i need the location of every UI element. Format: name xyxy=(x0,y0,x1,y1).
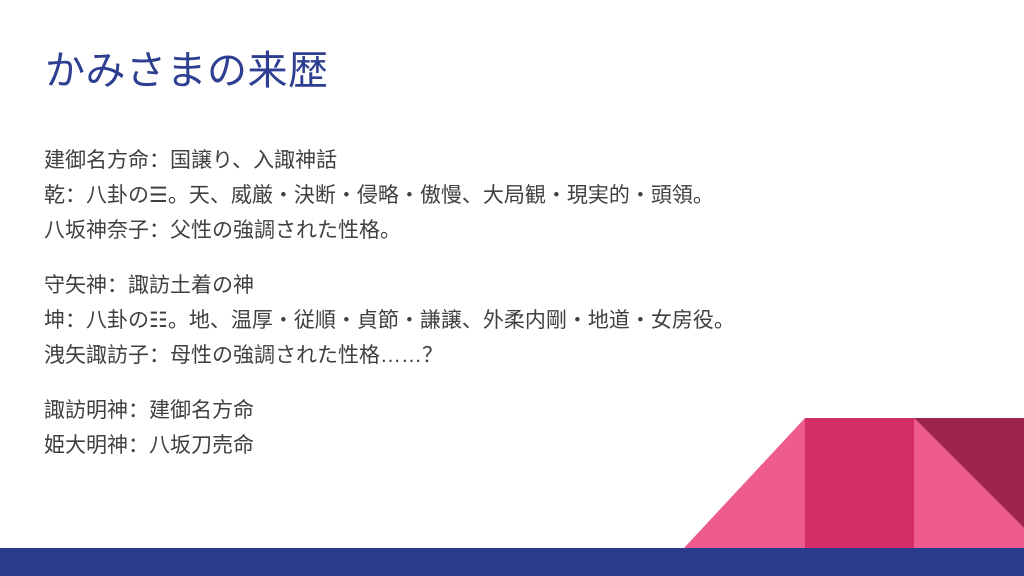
kanako-group: 建御名方命：国譲り、入諏神話 乾：八卦の☰。天、威厳・決断・侵略・傲慢、大局観・… xyxy=(44,143,984,248)
footer-bar xyxy=(0,548,1024,576)
body-line: 姫大明神：八坂刀売命 xyxy=(44,428,984,463)
page-title: かみさまの来歴 xyxy=(45,47,945,95)
suwako-group: 守矢神：諏訪土着の神 坤：八卦の☷。地、温厚・従順・貞節・謙譲、外柔内剛・地道・… xyxy=(44,268,984,373)
myojin-group: 諏訪明神：建御名方命 姫大明神：八坂刀売命 xyxy=(44,393,984,463)
body-line: 洩矢諏訪子：母性の強調された性格……？ xyxy=(44,338,984,373)
body-line: 坤：八卦の☷。地、温厚・従順・貞節・謙譲、外柔内剛・地道・女房役。 xyxy=(44,303,984,338)
slide-body: 建御名方命：国譲り、入諏神話 乾：八卦の☰。天、威厳・決断・侵略・傲慢、大局観・… xyxy=(44,143,984,463)
slide-canvas: かみさまの来歴 建御名方命：国譲り、入諏神話 乾：八卦の☰。天、威厳・決断・侵略… xyxy=(0,0,1024,576)
body-line: 守矢神：諏訪土着の神 xyxy=(44,268,984,303)
body-line: 建御名方命：国譲り、入諏神話 xyxy=(44,143,984,178)
body-line: 諏訪明神：建御名方命 xyxy=(44,393,984,428)
body-line: 乾：八卦の☰。天、威厳・決断・侵略・傲慢、大局観・現実的・頭領。 xyxy=(44,178,984,213)
body-line: 八坂神奈子：父性の強調された性格。 xyxy=(44,213,984,248)
